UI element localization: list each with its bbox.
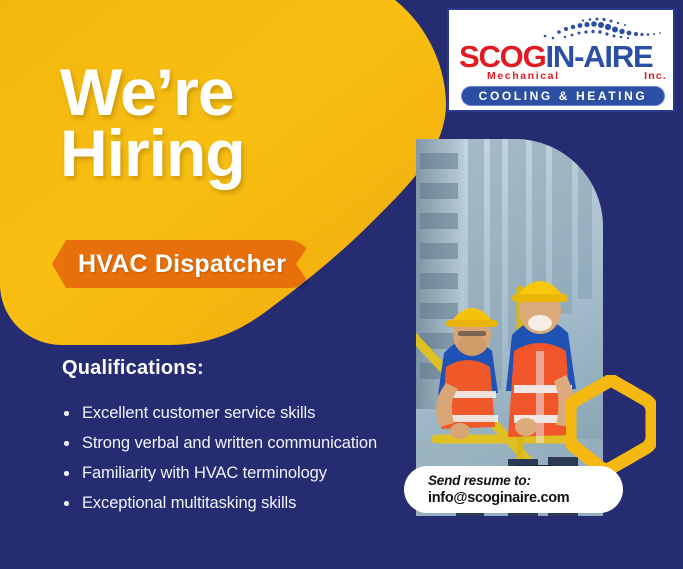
logo-name-part-1: SCOG <box>459 39 546 74</box>
bullet-icon <box>64 471 69 476</box>
list-item: Excellent customer service skills <box>62 398 422 428</box>
hexagon-accent-icon <box>566 375 656 473</box>
list-item-label: Familiarity with HVAC terminology <box>82 464 327 482</box>
list-item: Strong verbal and written communication <box>62 428 422 458</box>
logo-name-part-4: IRE <box>604 39 652 74</box>
qualifications-heading: Qualifications: <box>62 357 204 380</box>
logo-subtitle-inc: Inc. <box>644 70 667 82</box>
qualifications-list: Excellent customer service skills Strong… <box>62 398 422 518</box>
contact-card: Send resume to: info@scoginaire.com <box>404 466 623 513</box>
list-item: Exceptional multitasking skills <box>62 488 422 518</box>
company-logo: SCOGIN-AIRE Mechanical Inc. COOLING & HE… <box>447 8 675 112</box>
bullet-icon <box>64 441 69 446</box>
logo-company-name: SCOGIN-AIRE <box>459 40 667 74</box>
logo-name-dash: - <box>574 39 583 74</box>
headline-line-2: Hiring <box>60 123 400 184</box>
list-item-label: Excellent customer service skills <box>82 404 315 422</box>
logo-subtitle: Mechanical Inc. <box>487 70 667 82</box>
contact-email[interactable]: info@scoginaire.com <box>428 489 623 507</box>
logo-name-part-2: IN <box>546 39 575 74</box>
send-resume-label: Send resume to: <box>428 472 623 489</box>
logo-tagline-label: COOLING & HEATING <box>479 89 648 103</box>
logo-wordmark: SCOGIN-AIRE <box>459 40 667 74</box>
list-item-label: Strong verbal and written communication <box>82 434 377 452</box>
list-item: Familiarity with HVAC terminology <box>62 458 422 488</box>
bullet-icon <box>64 501 69 506</box>
hiring-poster: We’re Hiring HVAC Dispatcher Qualificati… <box>0 0 683 569</box>
list-item-label: Exceptional multitasking skills <box>82 494 296 512</box>
page-title: We’re Hiring <box>60 62 400 185</box>
logo-subtitle-mechanical: Mechanical <box>487 70 560 82</box>
bullet-icon <box>64 411 69 416</box>
logo-name-part-3: A <box>583 39 604 74</box>
job-title-badge: HVAC Dispatcher <box>52 240 312 288</box>
job-title-label: HVAC Dispatcher <box>78 250 286 279</box>
logo-tagline-banner: COOLING & HEATING <box>461 86 665 106</box>
